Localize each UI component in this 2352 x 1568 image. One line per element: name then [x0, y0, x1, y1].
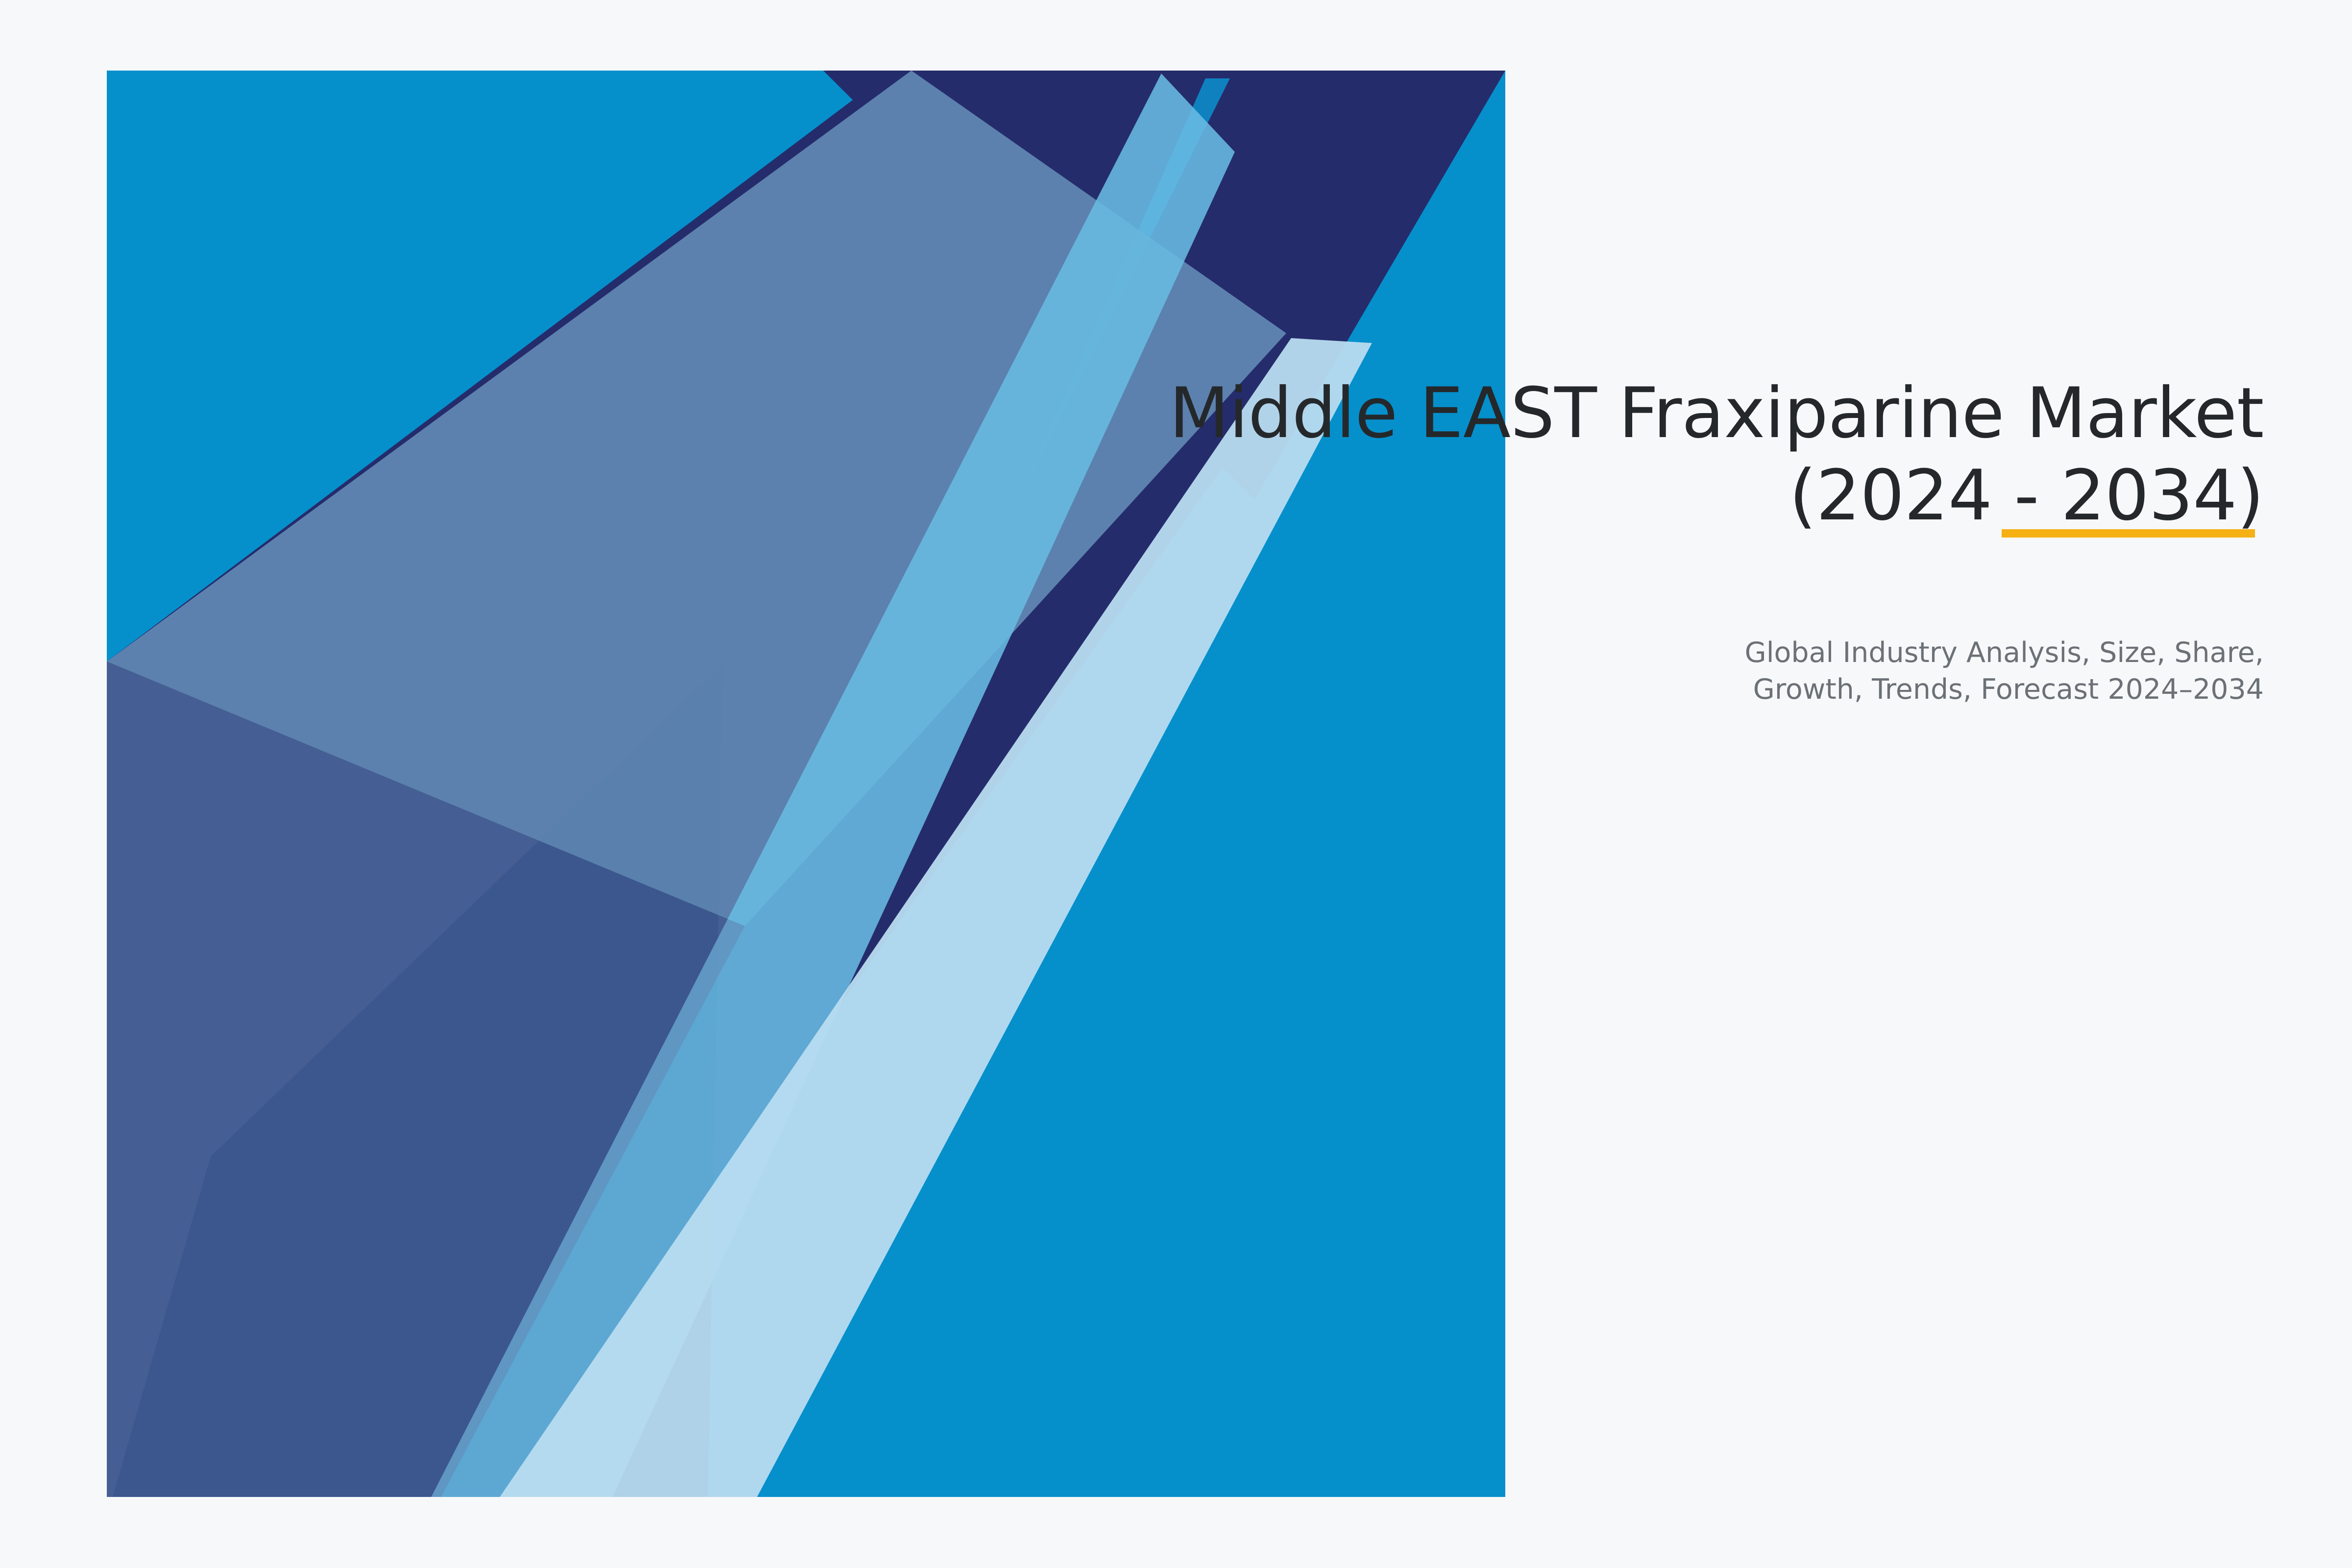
abstract-geometric-cover-graphic [0, 0, 2352, 1568]
page-title: Middle EAST Fraxiparine Market (2024 - 2… [980, 372, 2264, 537]
page-subtitle: Global Industry Analysis, Size, Share, G… [980, 635, 2264, 708]
title-accent-underline [2002, 529, 2255, 538]
title-slide: Middle EAST Fraxiparine Market (2024 - 2… [0, 0, 2352, 1568]
title-text-block: Middle EAST Fraxiparine Market (2024 - 2… [980, 372, 2264, 709]
subtitle-block: Global Industry Analysis, Size, Share, G… [980, 635, 2264, 708]
